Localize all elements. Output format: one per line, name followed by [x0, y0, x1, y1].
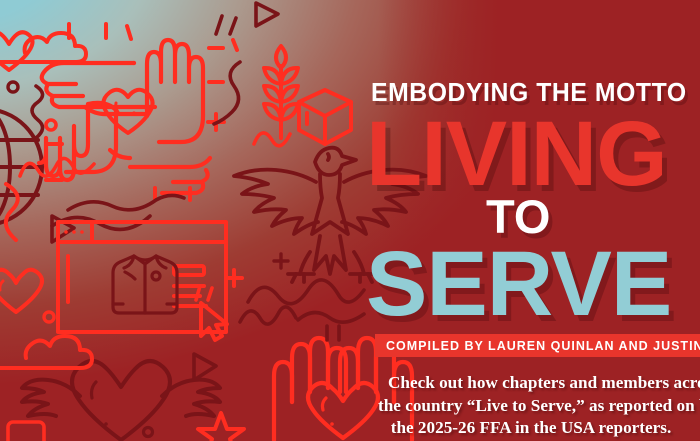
headline-serve: SERVE: [366, 238, 671, 330]
dash-icon: [192, 282, 218, 304]
byline-banner: COMPILED BY LAUREN QUINLAN AND JUSTIN DA…: [375, 334, 700, 357]
byline-text: COMPILED BY LAUREN QUINLAN AND JUSTIN DA…: [386, 339, 700, 353]
cloud-icon: [0, 328, 102, 374]
headline-block: EMBODYING THE MOTTO LIVING TO SERVE COMP…: [366, 0, 700, 441]
squiggle-icon: [28, 82, 58, 142]
small-circle-icon: [4, 78, 22, 96]
squiggle-icon: [210, 58, 250, 128]
deck-paragraph: Check out how chapters and members acros…: [366, 372, 696, 440]
ffa-jacket-icon: [110, 252, 180, 318]
cube-box-icon: [294, 86, 356, 148]
deck-line-2: the country “Live to Serve,” as reported…: [378, 395, 696, 418]
squiggle-icon: [18, 148, 98, 184]
heart-icon: [0, 266, 42, 316]
star-icon: [4, 416, 48, 441]
deck-line-1: Check out how chapters and members acros…: [388, 372, 696, 395]
cloud-icon: [0, 24, 94, 68]
squiggle-icon: [0, 180, 46, 244]
small-circle-icon: [140, 424, 156, 440]
headline-living: LIVING: [366, 108, 667, 200]
squiggle-icon: [296, 306, 366, 326]
dash-icon: [212, 12, 242, 38]
deck-line-3: the 2025-26 FFA in the USA reporters.: [366, 417, 696, 440]
cursor-arrow-icon: [196, 300, 232, 344]
poster-canvas: EMBODYING THE MOTTO LIVING TO SERVE COMP…: [0, 0, 700, 441]
play-triangle-icon: [250, 0, 284, 30]
star-icon: [196, 410, 246, 441]
